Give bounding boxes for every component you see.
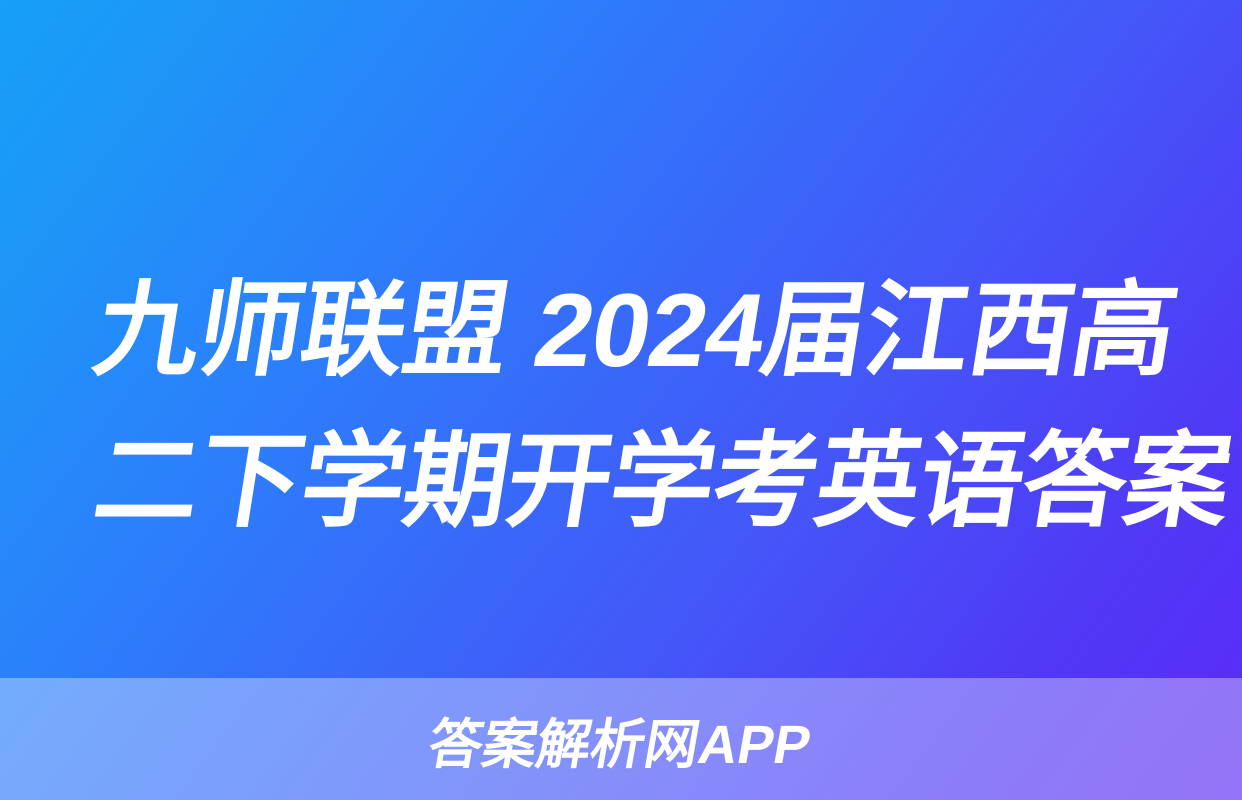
title-line-2: 二下学期开学考英语答案 xyxy=(84,407,1198,558)
poster-canvas: 九师联盟 2024届江西高 二下学期开学考英语答案 答案解析网APP xyxy=(0,0,1242,800)
watermark-bar: 答案解析网APP xyxy=(0,678,1242,800)
watermark-app-label: 答案解析网APP xyxy=(424,700,819,779)
title-line-1: 九师联盟 2024届江西高 xyxy=(84,256,1198,407)
poster-title: 九师联盟 2024届江西高 二下学期开学考英语答案 xyxy=(84,256,1174,558)
